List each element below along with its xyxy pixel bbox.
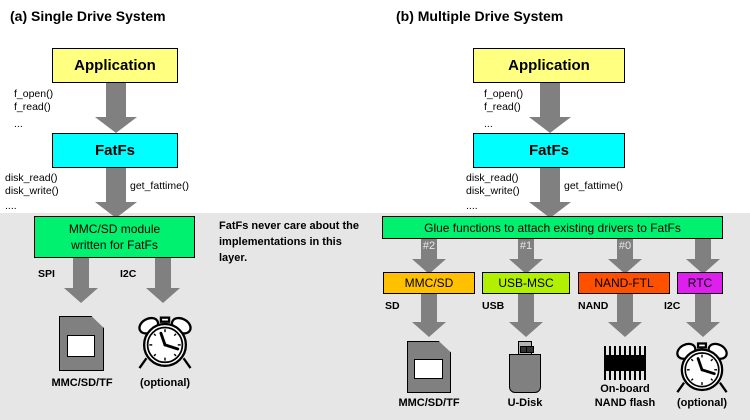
fatfs-architecture-diagram: (a) Single Drive System Application f_op… [0, 0, 750, 420]
clock-icon [136, 313, 194, 371]
bus-label-sd: SD [385, 300, 400, 312]
panel-a-bus-label-i2c: I2C [120, 268, 136, 280]
panel-a-application-box[interactable]: Application [52, 48, 178, 83]
panel-b-api-call-3: ... [484, 118, 493, 130]
panel-b-arrow-app-to-fatfs [529, 83, 571, 133]
nand-caption-line-2: NAND flash [595, 397, 656, 409]
sd-card-icon [59, 316, 104, 371]
drive-number-1: #1 [520, 240, 532, 252]
panel-a-api-call-1: f_open() [14, 88, 53, 100]
nand-chip-icon [601, 346, 649, 380]
panel-b-rtc-call: get_fattime() [564, 180, 623, 192]
panel-b-arrow-bus-i2c [686, 294, 720, 340]
panel-b-arrow-drive-2: #2 [412, 239, 446, 276]
driver-box-mmcsd[interactable]: MMC/SD [383, 272, 475, 294]
driver-box-usb-msc[interactable]: USB-MSC [482, 272, 570, 294]
panel-a-disk-call-1: disk_read() [5, 172, 58, 184]
panel-b-disk-call-2: disk_write() [466, 185, 520, 197]
panel-a-fatfs-box[interactable]: FatFs [52, 133, 178, 168]
panel-b-arrow-bus-sd [412, 294, 446, 340]
panel-b-arrow-bus-usb [509, 294, 543, 340]
panel-b-arrow-drive-0: #0 [608, 239, 642, 276]
panel-b-api-call-2: f_read() [484, 101, 521, 113]
panel-a-api-call-3: ... [14, 118, 23, 130]
panel-a-arrow-fatfs-to-module [95, 168, 137, 218]
panel-a-rtc-call: get_fattime() [130, 180, 189, 192]
implementation-layer-note: FatFs never care about the implementatio… [219, 219, 369, 267]
panel-b-caption-rtc: (optional) [665, 397, 739, 411]
panel-b-arrow-drive-rtc [686, 239, 720, 276]
drive-number-2: #2 [423, 240, 435, 252]
panel-b-fatfs-box[interactable]: FatFs [473, 133, 625, 168]
panel-a-caption-rtc: (optional) [128, 377, 202, 391]
panel-b-title: (b) Multiple Drive System [396, 8, 563, 24]
driver-box-nand-ftl[interactable]: NAND-FTL [578, 272, 670, 294]
panel-a-arrow-i2c [146, 258, 180, 306]
panel-a-module-line-2: written for FatFs [71, 237, 158, 253]
panel-a-api-call-2: f_read() [14, 101, 51, 113]
panel-a-mmcsd-module-box[interactable]: MMC/SD module written for FatFs [34, 216, 195, 258]
panel-b-caption-nand: On-board NAND flash [583, 383, 667, 411]
nand-caption-line-1: On-board [600, 383, 650, 395]
panel-b-disk-call-1: disk_read() [466, 172, 519, 184]
panel-b-arrow-fatfs-to-glue [529, 168, 571, 218]
panel-b-arrow-bus-nand [608, 294, 642, 340]
panel-a-bus-label-spi: SPI [38, 268, 55, 280]
bus-label-nand: NAND [578, 300, 608, 312]
panel-a-caption-sd: MMC/SD/TF [42, 377, 122, 391]
panel-a-arrow-spi [64, 258, 98, 306]
panel-b-application-box[interactable]: Application [473, 48, 625, 83]
panel-a-title: (a) Single Drive System [10, 8, 166, 24]
usb-disk-icon [508, 341, 542, 393]
panel-b-arrow-drive-1: #1 [509, 239, 543, 276]
panel-b-caption-sd: MMC/SD/TF [388, 397, 470, 411]
drive-number-0: #0 [619, 240, 631, 252]
panel-b-api-call-1: f_open() [484, 88, 523, 100]
panel-a-disk-call-3: .... [5, 200, 17, 212]
sd-card-icon [407, 341, 451, 393]
panel-a-disk-call-2: disk_write() [5, 185, 59, 197]
clock-icon [674, 339, 730, 395]
panel-b-disk-call-3: .... [466, 200, 478, 212]
panel-a-arrow-app-to-fatfs [95, 83, 137, 133]
glue-functions-box[interactable]: Glue functions to attach existing driver… [382, 216, 723, 239]
driver-box-rtc[interactable]: RTC [677, 272, 723, 294]
panel-a-module-line-1: MMC/SD module [69, 221, 160, 237]
bus-label-usb: USB [482, 300, 504, 312]
panel-b-caption-usb: U-Disk [494, 397, 556, 411]
bus-label-i2c: I2C [664, 300, 680, 312]
